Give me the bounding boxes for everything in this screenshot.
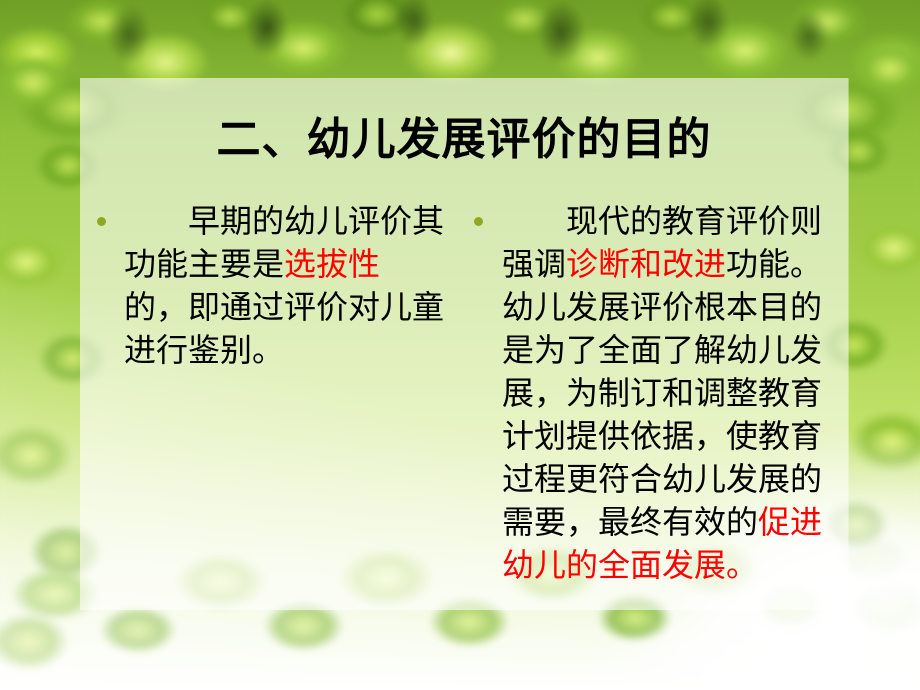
panel-edge: [848, 78, 849, 610]
bullet-icon: [474, 217, 483, 226]
bullet-icon: [97, 217, 106, 226]
paragraph-left: 早期的幼儿评价其功能主要是选拔性的，即通过评价对儿童进行鉴别。: [124, 200, 444, 372]
highlighted-text: 诊断和改进: [566, 245, 726, 283]
body-text: 的，即通过评价对儿童进行鉴别。: [124, 288, 444, 369]
body-column-left: 早期的幼儿评价其功能主要是选拔性的，即通过评价对儿童进行鉴别。: [80, 200, 462, 372]
presentation-slide: 二、幼儿发展评价的目的 早期的幼儿评价其功能主要是选拔性的，即通过评价对儿童进行…: [0, 0, 920, 690]
body-text: 功能。幼儿发展评价根本目的是为了全面了解幼儿发展，为制订和调整教育计划提供依据，…: [502, 245, 822, 541]
body-columns: 早期的幼儿评价其功能主要是选拔性的，即通过评价对儿童进行鉴别。 现代的教育评价则…: [80, 200, 848, 587]
body-column-right: 现代的教育评价则强调诊断和改进功能。幼儿发展评价根本目的是为了全面了解幼儿发展，…: [462, 200, 848, 587]
paragraph-right: 现代的教育评价则强调诊断和改进功能。幼儿发展评价根本目的是为了全面了解幼儿发展，…: [502, 200, 832, 587]
slide-title: 二、幼儿发展评价的目的: [80, 112, 848, 168]
highlighted-text: 选拔性: [284, 245, 380, 283]
